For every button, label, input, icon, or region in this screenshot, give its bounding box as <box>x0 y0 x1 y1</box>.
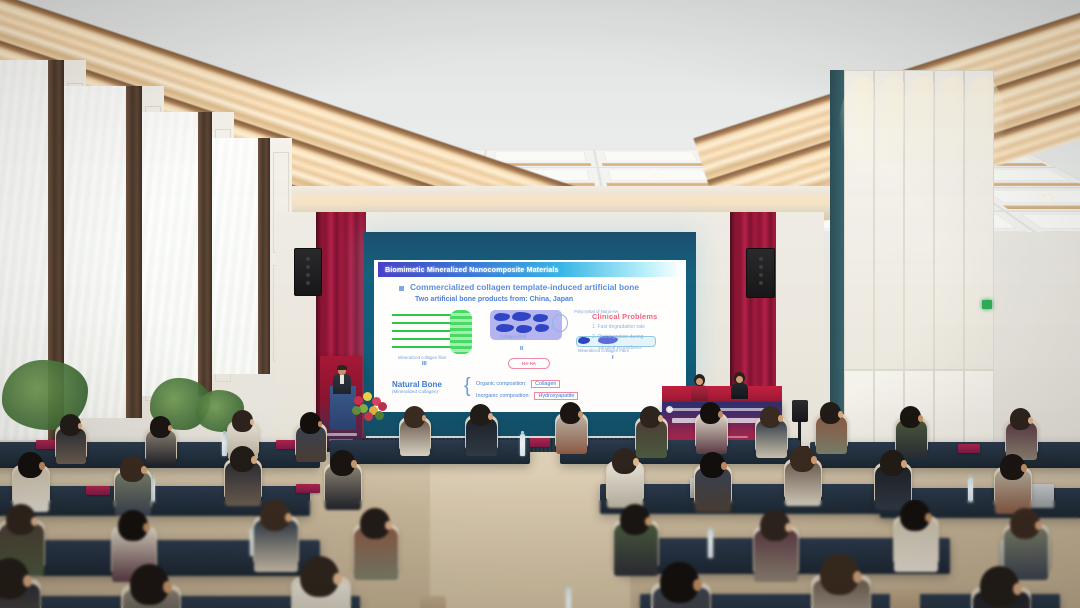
ear <box>721 462 727 470</box>
ear <box>901 460 907 468</box>
presentation-slide: Biomimetic Mineralized Nanocomposite Mat… <box>374 260 686 412</box>
ear <box>163 581 172 593</box>
inorganic-composition-row: Inorganic composition: Hydroxyapatite <box>476 392 578 400</box>
window-3 <box>142 112 198 396</box>
ear <box>718 411 723 418</box>
exit-sign <box>982 300 992 309</box>
ear <box>578 411 583 418</box>
natural-bone-title: Natural Bone <box>392 380 442 389</box>
ear <box>1035 521 1042 530</box>
soffit-glow <box>258 196 842 212</box>
window-4 <box>212 138 258 374</box>
name-card <box>958 444 980 453</box>
clinical-item-2b: surgical procedures <box>598 345 678 352</box>
bullet-square-icon <box>399 286 404 291</box>
diagram-numeral-iii: III <box>422 361 427 367</box>
organic-composition-value: Collagen <box>531 380 560 388</box>
ear <box>39 462 45 470</box>
clinical-item-1: 1. Fast degradation rate <box>592 324 678 331</box>
water-bottle <box>520 434 525 456</box>
slide-title-text: Biomimetic Mineralized Nanocomposite Mat… <box>385 265 559 274</box>
slide-bullet-1: Commercialized collagen template-induced… <box>410 282 639 292</box>
drape-panel-4 <box>258 138 270 374</box>
ear <box>645 517 652 526</box>
ear <box>23 575 32 587</box>
ear <box>778 415 783 422</box>
backpack <box>890 590 920 608</box>
diagram-pill-text: HA-HA <box>522 361 536 366</box>
ear <box>811 456 817 464</box>
slide-sub-line: Two artificial bone products from: China… <box>415 296 573 303</box>
ear <box>1028 417 1033 424</box>
ear <box>1013 583 1022 595</box>
audience-area <box>0 400 1080 608</box>
clinical-heading: Clinical Problems <box>592 312 678 321</box>
audience-table <box>810 442 1080 468</box>
ear <box>633 458 639 466</box>
conference-hall-photo: Biomimetic Mineralized Nanocomposite Mat… <box>0 0 1080 608</box>
diagram-label-fibril: Collagen fibril <box>500 334 526 339</box>
ear <box>693 579 702 591</box>
organic-composition-label: Organic composition: <box>476 381 527 387</box>
presenting-speaker <box>333 366 351 392</box>
ceiling-coffer <box>594 150 712 168</box>
ear <box>251 456 257 464</box>
ear <box>141 466 147 474</box>
organic-composition-row: Organic composition: Collagen <box>476 380 560 388</box>
diagram-pill-label: HA-HA <box>508 358 550 369</box>
ear <box>143 523 150 532</box>
diagram-label-fiber-iii: Mineralized collagen fiber <box>398 355 447 360</box>
ear <box>853 571 862 583</box>
recessed-downlight <box>653 174 663 178</box>
diagram-numeral-ii: II <box>520 346 523 352</box>
ear <box>918 415 923 422</box>
water-bottle <box>566 588 571 608</box>
name-card <box>86 486 110 495</box>
drape-panel-2 <box>126 86 142 418</box>
ear <box>658 415 663 422</box>
ear <box>838 411 843 418</box>
name-card <box>296 484 320 493</box>
name-card <box>530 438 550 447</box>
wall-speaker-left <box>294 248 322 296</box>
inorganic-composition-value: Hydroxyapatite <box>534 392 578 400</box>
clinical-item-2: 2. Disintegration during <box>592 334 678 341</box>
water-bottle <box>968 478 973 502</box>
ear <box>333 573 342 585</box>
ear <box>925 513 932 522</box>
slide-title-bar: Biomimetic Mineralized Nanocomposite Mat… <box>378 262 682 277</box>
ear <box>31 517 38 526</box>
ear <box>351 460 357 468</box>
inorganic-composition-label: Inorganic composition: <box>476 393 530 399</box>
ear <box>285 513 292 522</box>
diagram-numeral-i: I <box>612 355 614 361</box>
collagen-fiber-bundle <box>450 310 472 354</box>
natural-bone-name: Natural Bone (Mineralized Collagen) <box>392 380 442 394</box>
ear <box>785 523 792 532</box>
drape-panel-3 <box>198 112 212 396</box>
ear <box>488 413 493 420</box>
ear <box>385 521 392 530</box>
clinical-problems-block: Clinical Problems 1. Fast degradation ra… <box>592 312 678 352</box>
water-bottle <box>708 530 713 558</box>
wall-speaker-right <box>746 248 775 298</box>
brace-glyph: { <box>464 378 471 394</box>
sheer-curtain <box>212 138 258 374</box>
ear <box>1021 464 1027 472</box>
natural-bone-subtitle: (Mineralized Collagen) <box>392 389 442 394</box>
backpack <box>420 596 446 608</box>
sheer-curtain <box>142 112 198 396</box>
